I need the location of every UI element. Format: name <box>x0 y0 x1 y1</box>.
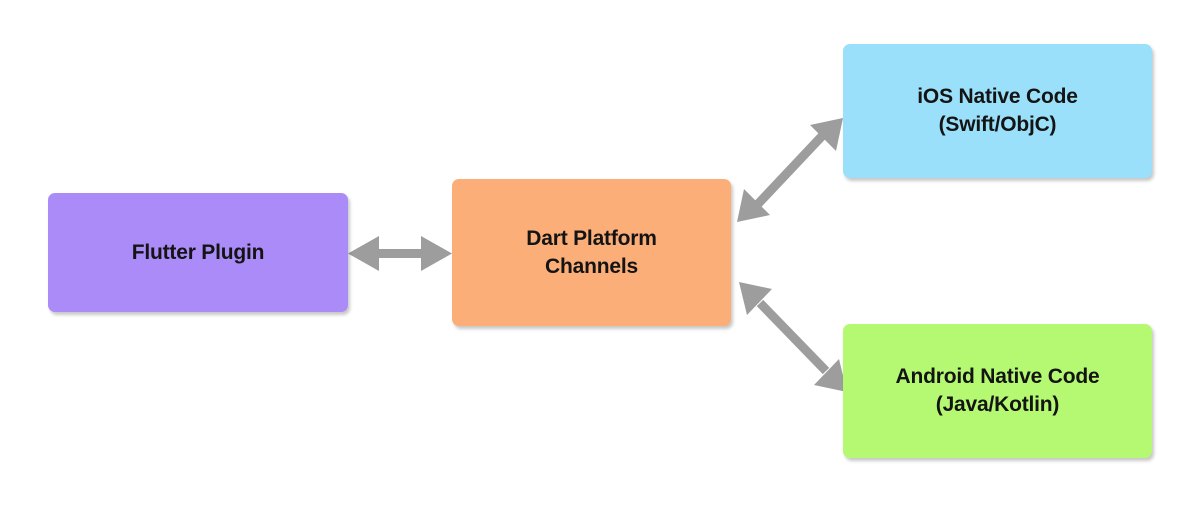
node-dart-platform-channels[interactable]: Dart Platform Channels <box>452 179 731 326</box>
node-android-native-code[interactable]: Android Native Code (Java/Kotlin) <box>843 324 1152 458</box>
arrow-dart-platform-channels-to-android-native-code <box>739 282 847 392</box>
diagram-canvas: Flutter Plugin Dart Platform Channels iO… <box>0 0 1200 510</box>
node-android-native-code-label: Android Native Code (Java/Kotlin) <box>886 363 1110 418</box>
arrow-dart-platform-channels-to-ios-native-code <box>737 118 843 222</box>
node-ios-native-code-label: iOS Native Code (Swift/ObjC) <box>907 83 1087 138</box>
node-dart-platform-channels-label: Dart Platform Channels <box>516 225 666 280</box>
node-flutter-plugin[interactable]: Flutter Plugin <box>48 193 348 312</box>
arrow-flutter-plugin-to-dart-platform-channels <box>348 236 452 271</box>
node-ios-native-code[interactable]: iOS Native Code (Swift/ObjC) <box>843 44 1152 178</box>
node-flutter-plugin-label: Flutter Plugin <box>122 239 275 267</box>
